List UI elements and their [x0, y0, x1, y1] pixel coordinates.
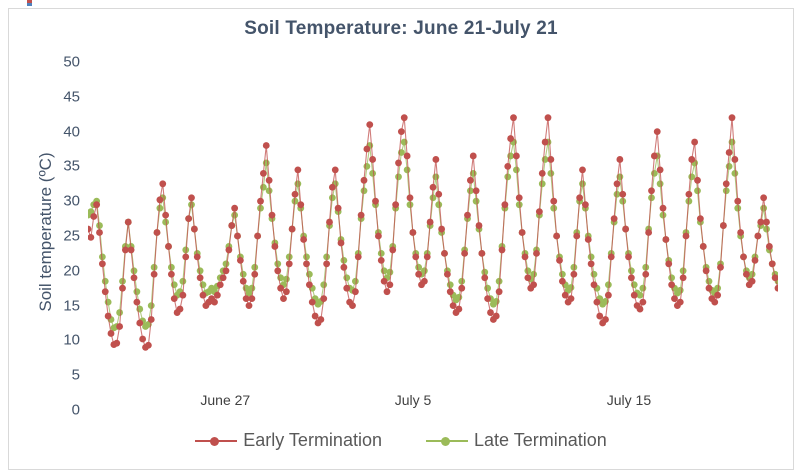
data-point-marker [619, 191, 626, 198]
data-point-marker [90, 213, 97, 220]
data-point-marker [688, 173, 695, 180]
data-point-marker [697, 215, 704, 222]
data-point-marker [294, 166, 301, 173]
data-point-marker [240, 278, 247, 285]
data-point-marker [165, 243, 172, 250]
data-point-marker [99, 260, 106, 267]
data-point-marker [358, 212, 365, 219]
data-point-marker [476, 222, 483, 229]
data-point-marker [464, 212, 471, 219]
data-point-marker [536, 208, 543, 215]
data-point-marker [421, 278, 428, 285]
data-point-marker [179, 292, 186, 299]
data-point-marker [102, 288, 109, 295]
data-point-marker [524, 274, 531, 281]
data-point-marker [539, 170, 546, 177]
data-point-marker [197, 267, 204, 274]
data-point-marker [473, 187, 480, 194]
data-point-marker [450, 302, 457, 309]
data-point-marker [343, 285, 350, 292]
data-point-marker [128, 247, 135, 254]
data-point-marker [447, 288, 454, 295]
data-point-marker [513, 153, 520, 160]
legend-dot-late [441, 437, 450, 446]
data-point-marker [306, 281, 313, 288]
data-point-marker [156, 196, 163, 203]
data-point-marker [105, 313, 112, 320]
data-point-marker [573, 233, 580, 240]
data-point-marker [131, 274, 138, 281]
data-point-marker [248, 285, 255, 292]
data-point-marker [220, 274, 227, 281]
data-point-marker [231, 205, 238, 212]
data-point-marker [145, 342, 152, 349]
data-point-marker [320, 281, 327, 288]
data-point-marker [455, 306, 462, 313]
data-point-marker [671, 295, 678, 302]
data-point-marker [116, 323, 123, 330]
data-point-marker [260, 184, 267, 191]
data-point-marker [657, 180, 664, 187]
data-point-marker [381, 267, 388, 274]
data-point-marker [493, 313, 500, 320]
data-point-marker [605, 292, 612, 299]
data-point-marker [404, 153, 411, 160]
series-canvas [88, 62, 778, 410]
data-point-marker [386, 269, 393, 276]
chart-figure: Soil Temperature: June 21-July 21 Soil t… [0, 0, 802, 475]
chart-legend: Early Termination Late Termination [0, 430, 802, 451]
data-point-marker [611, 215, 618, 222]
data-point-marker [415, 264, 422, 271]
data-point-marker [395, 173, 402, 180]
data-point-marker [484, 285, 491, 292]
data-point-marker [274, 267, 281, 274]
legend-marker-icon-late [426, 434, 468, 448]
data-point-marker [88, 234, 94, 241]
data-point-marker [545, 114, 552, 121]
legend-label-late: Late Termination [474, 430, 607, 451]
data-point-marker [404, 166, 411, 173]
series-line [88, 118, 778, 348]
legend-label-early: Early Termination [243, 430, 382, 451]
data-point-marker [125, 219, 132, 226]
data-point-marker [714, 292, 721, 299]
data-point-marker [435, 191, 442, 198]
data-point-marker [568, 284, 575, 291]
data-point-marker [432, 156, 439, 163]
data-point-marker [286, 260, 293, 267]
data-point-marker [726, 149, 733, 156]
data-point-marker [570, 271, 577, 278]
data-point-marker [398, 128, 405, 135]
data-point-marker [323, 260, 330, 267]
data-point-marker [766, 243, 773, 250]
data-point-marker [731, 156, 738, 163]
data-point-marker [596, 313, 603, 320]
series-late-termination [88, 139, 778, 332]
data-point-marker [266, 177, 273, 184]
data-point-marker [717, 264, 724, 271]
data-point-marker [309, 299, 316, 306]
data-point-marker [484, 295, 491, 302]
data-point-marker [297, 201, 304, 208]
data-point-marker [366, 121, 373, 128]
data-point-marker [530, 281, 537, 288]
data-point-marker [168, 271, 175, 278]
data-point-marker [317, 316, 324, 323]
data-point-marker [430, 184, 437, 191]
data-point-marker [754, 233, 761, 240]
data-point-marker [579, 180, 586, 187]
data-point-marker [496, 288, 503, 295]
data-point-marker [591, 271, 598, 278]
data-point-marker [608, 253, 615, 260]
data-point-marker [461, 250, 468, 257]
data-point-marker [154, 229, 161, 236]
data-point-marker [211, 299, 218, 306]
data-point-marker [363, 146, 370, 153]
data-point-marker [430, 194, 437, 201]
data-point-marker [645, 229, 652, 236]
data-point-marker [188, 194, 195, 201]
data-point-marker [381, 278, 388, 285]
data-point-marker [228, 222, 235, 229]
data-point-marker [579, 166, 586, 173]
legend-item-early-termination[interactable]: Early Termination [195, 430, 382, 451]
data-point-marker [435, 201, 442, 208]
data-point-marker [217, 281, 224, 288]
data-point-marker [628, 274, 635, 281]
data-point-marker [685, 191, 692, 198]
data-point-marker [657, 166, 664, 173]
data-point-marker [631, 292, 638, 299]
data-point-marker [369, 170, 376, 177]
legend-dot-early [210, 437, 219, 446]
data-point-marker [731, 170, 738, 177]
data-point-marker [177, 306, 184, 313]
data-point-marker [251, 271, 258, 278]
data-point-marker [292, 191, 299, 198]
data-point-marker [338, 240, 345, 247]
data-point-marker [320, 295, 327, 302]
data-point-marker [749, 278, 756, 285]
data-point-marker [763, 219, 770, 226]
data-point-marker [504, 163, 511, 170]
data-point-marker [438, 226, 445, 233]
data-point-marker [720, 222, 727, 229]
data-point-marker [519, 229, 526, 236]
data-point-marker [752, 257, 759, 264]
data-point-marker [651, 170, 658, 177]
data-point-marker [559, 278, 566, 285]
data-point-marker [524, 267, 531, 274]
data-point-marker [306, 271, 313, 278]
data-point-marker [372, 198, 379, 205]
data-point-marker [384, 288, 391, 295]
data-point-marker [499, 247, 506, 254]
data-point-marker [513, 166, 520, 173]
data-point-marker [654, 128, 661, 135]
data-point-marker [96, 229, 103, 236]
data-point-marker [263, 142, 270, 149]
data-point-marker [395, 160, 402, 167]
data-point-marker [576, 194, 583, 201]
data-point-marker [412, 253, 419, 260]
data-point-marker [257, 198, 264, 205]
data-point-marker [343, 274, 350, 281]
data-point-marker [139, 336, 146, 343]
data-point-marker [680, 274, 687, 281]
data-point-marker [769, 260, 776, 267]
data-point-marker [568, 295, 575, 302]
data-point-marker [392, 201, 399, 208]
data-point-marker [691, 139, 698, 146]
data-point-marker [326, 219, 333, 226]
data-point-marker [677, 299, 684, 306]
data-point-marker [737, 229, 744, 236]
data-point-marker [171, 295, 178, 302]
data-point-marker [478, 250, 485, 257]
data-point-marker [593, 299, 600, 306]
data-point-marker [375, 233, 382, 240]
data-point-marker [688, 156, 695, 163]
data-point-marker [151, 271, 158, 278]
data-point-marker [662, 236, 669, 243]
data-point-marker [214, 292, 221, 299]
data-point-marker [743, 271, 750, 278]
data-point-marker [734, 198, 741, 205]
plot-area [88, 62, 778, 410]
data-point-marker [237, 257, 244, 264]
data-point-marker [223, 260, 230, 267]
data-point-marker [283, 276, 290, 283]
data-point-marker [185, 215, 192, 222]
data-point-marker [234, 233, 241, 240]
data-point-marker [729, 114, 736, 121]
data-point-marker [266, 187, 273, 194]
data-point-marker [510, 114, 517, 121]
data-point-marker [481, 274, 488, 281]
data-point-marker [516, 194, 523, 201]
data-point-marker [760, 205, 767, 212]
data-point-marker [668, 281, 675, 288]
data-point-marker [246, 302, 253, 309]
data-point-marker [197, 274, 204, 281]
legend-marker-icon-early [195, 434, 237, 448]
data-point-marker [401, 114, 408, 121]
data-point-marker [427, 219, 434, 226]
data-point-marker [591, 281, 598, 288]
data-point-marker [628, 267, 635, 274]
data-point-marker [614, 180, 621, 187]
data-point-marker [723, 180, 730, 187]
data-point-marker [361, 187, 368, 194]
data-point-marker [340, 264, 347, 271]
data-point-marker [533, 250, 540, 257]
data-point-marker [329, 184, 336, 191]
data-point-marker [162, 212, 169, 219]
data-point-marker [637, 306, 644, 313]
data-point-marker [703, 267, 710, 274]
data-point-marker [133, 288, 140, 295]
data-point-marker [119, 285, 126, 292]
data-point-marker [625, 253, 632, 260]
data-point-marker [648, 187, 655, 194]
data-point-marker [312, 313, 319, 320]
data-point-marker [248, 295, 255, 302]
data-point-marker [602, 316, 609, 323]
data-point-marker [507, 135, 514, 142]
data-point-marker [407, 194, 414, 201]
data-point-marker [352, 288, 359, 295]
data-point-marker [355, 253, 362, 260]
data-point-marker [487, 309, 494, 316]
data-point-marker [547, 156, 554, 163]
data-point-marker [559, 271, 566, 278]
data-point-marker [660, 205, 667, 212]
data-point-marker [277, 285, 284, 292]
data-point-marker [585, 236, 592, 243]
data-point-marker [458, 285, 465, 292]
data-point-marker [444, 271, 451, 278]
data-point-marker [378, 257, 385, 264]
data-point-marker [539, 180, 546, 187]
data-point-marker [504, 173, 511, 180]
data-point-marker [300, 236, 307, 243]
data-point-marker [182, 253, 189, 260]
data-point-marker [108, 330, 115, 337]
data-point-marker [280, 295, 287, 302]
data-point-marker [760, 194, 767, 201]
data-point-marker [639, 299, 646, 306]
data-point-marker [223, 267, 230, 274]
data-point-marker [467, 177, 474, 184]
data-point-marker [588, 260, 595, 267]
data-point-marker [424, 253, 431, 260]
data-point-marker [254, 233, 261, 240]
data-point-marker [389, 247, 396, 254]
data-point-marker [113, 340, 120, 347]
data-point-marker [335, 205, 342, 212]
data-point-marker [616, 156, 623, 163]
data-point-marker [726, 163, 733, 170]
legend-item-late-termination[interactable]: Late Termination [426, 430, 607, 451]
data-point-marker [542, 139, 549, 146]
data-point-marker [102, 278, 109, 285]
data-point-marker [159, 180, 166, 187]
data-point-marker [200, 292, 207, 299]
data-point-marker [447, 281, 454, 288]
data-point-marker [271, 243, 278, 250]
data-point-marker [639, 285, 646, 292]
data-point-marker [269, 212, 276, 219]
data-point-marker [329, 194, 336, 201]
data-point-marker [711, 299, 718, 306]
data-point-marker [88, 226, 91, 233]
data-point-marker [441, 250, 448, 257]
data-point-marker [361, 177, 368, 184]
data-point-marker [582, 201, 589, 208]
data-point-marker [240, 271, 247, 278]
data-point-marker [473, 198, 480, 205]
data-point-marker [194, 253, 201, 260]
data-point-marker [179, 278, 186, 285]
data-point-marker [303, 260, 310, 267]
data-point-marker [642, 271, 649, 278]
data-point-marker [116, 309, 123, 316]
series-early-termination [88, 114, 778, 350]
data-point-marker [683, 233, 690, 240]
data-point-marker [622, 226, 629, 233]
data-point-marker [369, 156, 376, 163]
data-point-marker [386, 281, 393, 288]
data-point-marker [740, 253, 747, 260]
data-point-marker [136, 320, 143, 327]
data-point-marker [530, 271, 537, 278]
data-point-marker [283, 288, 290, 295]
data-point-marker [668, 274, 675, 281]
data-point-marker [522, 253, 529, 260]
data-point-marker [694, 187, 701, 194]
data-point-marker [553, 233, 560, 240]
data-point-marker [700, 243, 707, 250]
data-point-marker [501, 201, 508, 208]
data-point-marker [409, 229, 416, 236]
data-point-marker [332, 166, 339, 173]
data-point-marker [547, 170, 554, 177]
data-point-marker [133, 299, 140, 306]
data-point-marker [349, 302, 356, 309]
data-point-marker [225, 247, 232, 254]
data-point-marker [260, 170, 267, 177]
data-point-marker [93, 201, 100, 208]
data-point-marker [470, 153, 477, 160]
data-point-marker [651, 153, 658, 160]
data-point-marker [706, 278, 713, 285]
data-point-marker [550, 198, 557, 205]
data-point-marker [352, 278, 359, 285]
data-point-marker [421, 267, 428, 274]
data-point-marker [496, 278, 503, 285]
data-point-marker [775, 285, 778, 292]
data-point-marker [363, 163, 370, 170]
data-point-marker [148, 302, 155, 309]
data-point-marker [694, 177, 701, 184]
data-point-marker [415, 271, 422, 278]
data-point-marker [605, 281, 612, 288]
data-point-marker [665, 260, 672, 267]
data-point-marker [706, 285, 713, 292]
data-point-marker [556, 257, 563, 264]
data-point-marker [289, 226, 296, 233]
data-point-marker [148, 316, 155, 323]
data-point-marker [562, 292, 569, 299]
data-point-marker [677, 287, 684, 294]
data-point-marker [191, 226, 198, 233]
